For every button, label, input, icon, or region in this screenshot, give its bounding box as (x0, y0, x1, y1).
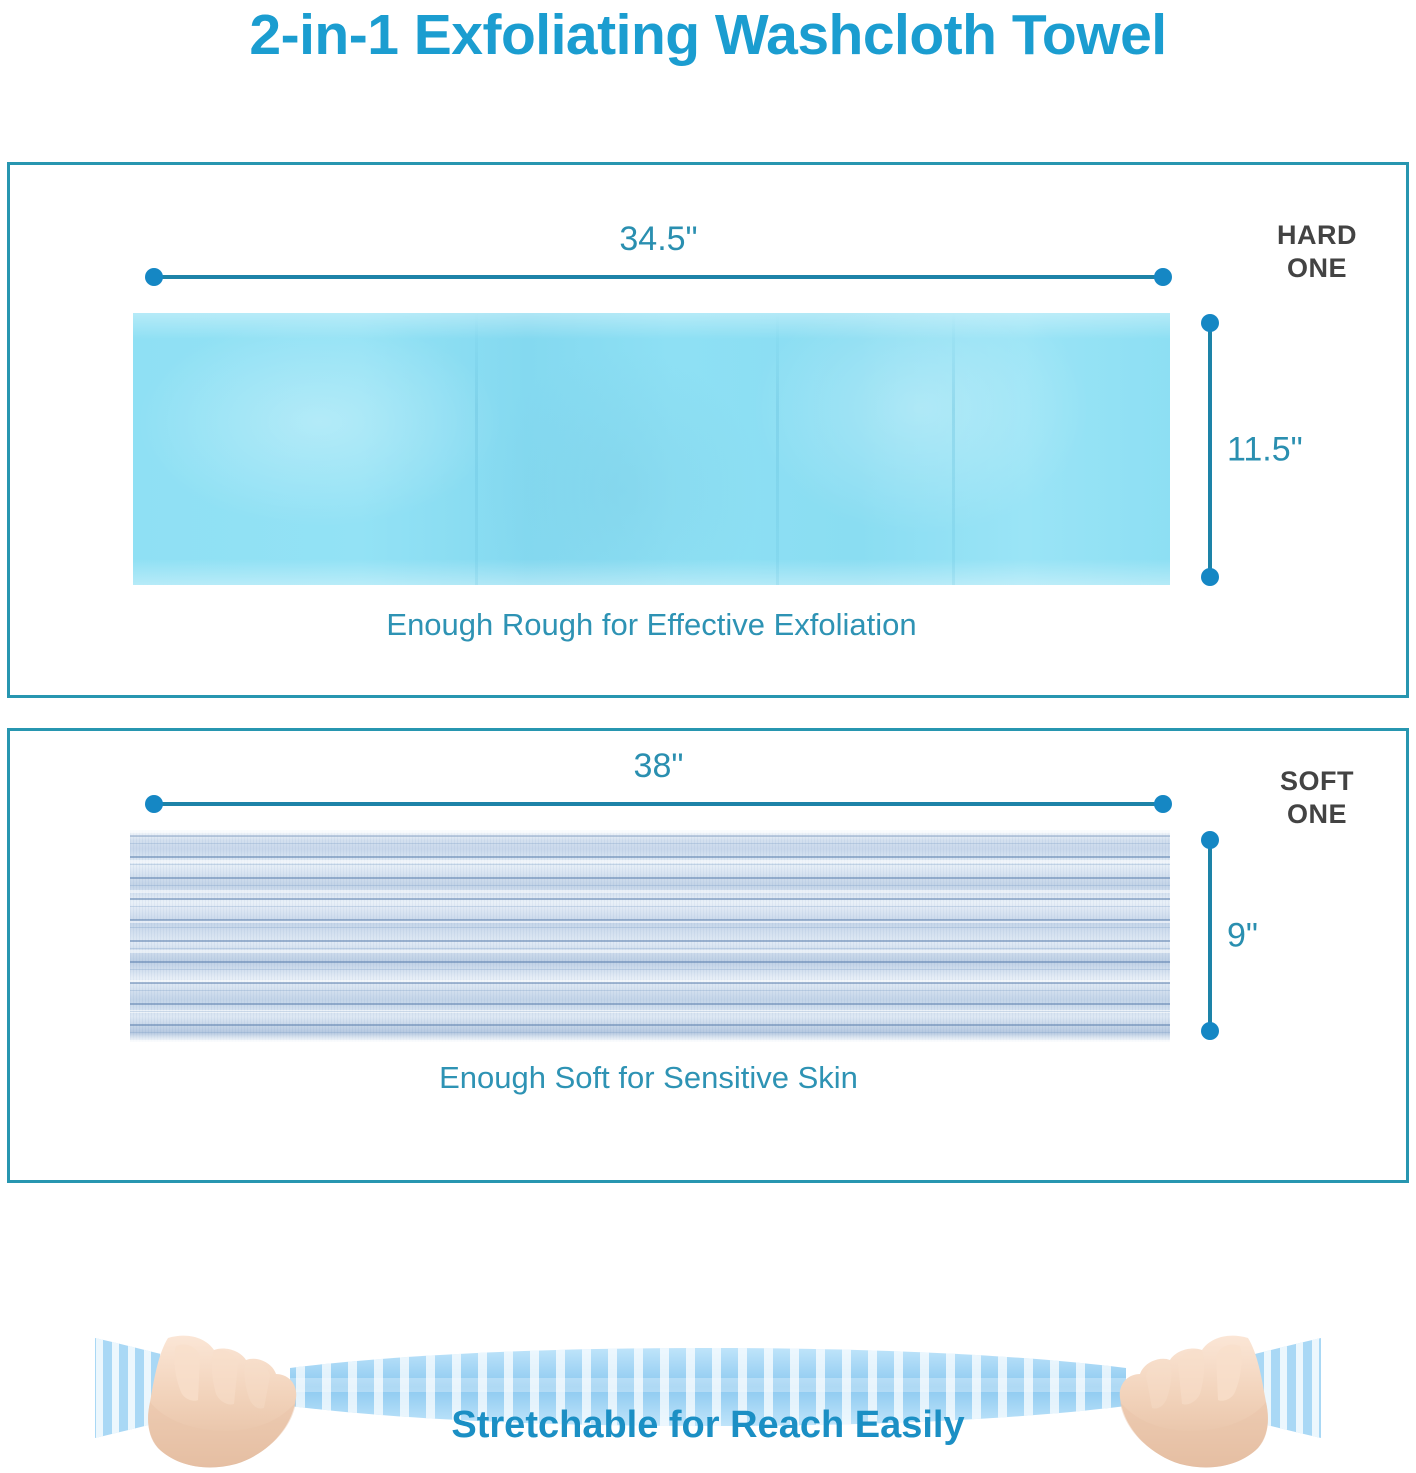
dimension-width-soft: 38" (147, 795, 1170, 813)
dimension-height-soft: 9" (1201, 833, 1219, 1038)
dimension-line (1208, 316, 1212, 584)
dimension-width-hard: 34.5" (147, 268, 1170, 286)
dimension-line (147, 275, 1170, 279)
side-label-hard-line1: HARD (1232, 219, 1402, 252)
side-label-soft: SOFT ONE (1232, 765, 1402, 831)
towel-image-soft (130, 830, 1170, 1042)
dimension-dot-left (145, 795, 163, 813)
towel-sheen-top (133, 313, 1170, 339)
infographic-page: 2-in-1 Exfoliating Washcloth Towel HARD … (0, 0, 1416, 1473)
dimension-height-soft-value: 9" (1227, 916, 1258, 955)
dimension-dot-right (1154, 268, 1172, 286)
towel-fold-line (776, 313, 779, 585)
caption-soft: Enough Soft for Sensitive Skin (130, 1060, 1167, 1096)
side-label-soft-line2: ONE (1232, 798, 1402, 831)
side-label-soft-line1: SOFT (1232, 765, 1402, 798)
towel-fold-line (475, 313, 478, 585)
dimension-dot-left (145, 268, 163, 286)
towel-sheen-bottom (133, 559, 1170, 585)
dimension-height-hard-value: 11.5" (1227, 431, 1303, 470)
towel-fold-line (952, 313, 955, 585)
side-label-hard: HARD ONE (1232, 219, 1402, 285)
right-hand-icon (1120, 1336, 1268, 1468)
bottom-caption: Stretchable for Reach Easily (0, 1404, 1416, 1447)
dimension-dot-top (1201, 314, 1219, 332)
dimension-dot-bottom (1201, 568, 1219, 586)
dimension-width-soft-value: 38" (147, 747, 1170, 786)
page-title: 2-in-1 Exfoliating Washcloth Towel (0, 2, 1416, 68)
dimension-dot-bottom (1201, 1022, 1219, 1040)
towel-edge-top (130, 830, 1170, 840)
caption-hard: Enough Rough for Effective Exfoliation (133, 607, 1170, 643)
side-label-hard-line2: ONE (1232, 252, 1402, 285)
dimension-line (1208, 833, 1212, 1038)
towel-edge-bottom (130, 1032, 1170, 1042)
dimension-dot-top (1201, 831, 1219, 849)
dimension-width-hard-value: 34.5" (147, 220, 1170, 259)
dimension-dot-right (1154, 795, 1172, 813)
left-hand-icon (148, 1336, 296, 1468)
dimension-line (147, 802, 1170, 806)
towel-image-hard (133, 313, 1170, 585)
dimension-height-hard: 11.5" (1201, 316, 1219, 584)
